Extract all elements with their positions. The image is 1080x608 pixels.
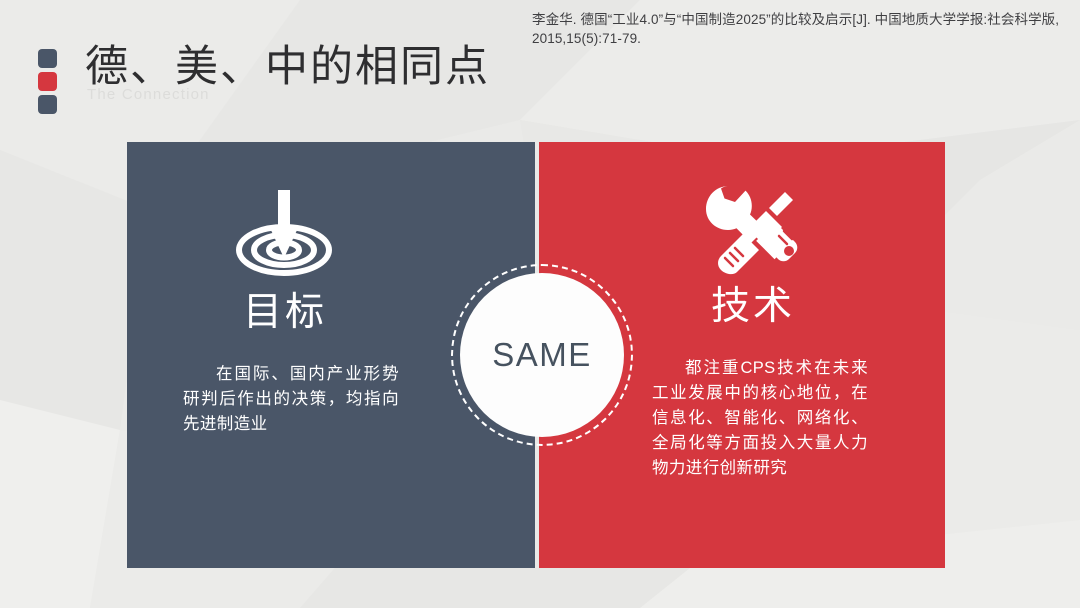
title-bullet-group bbox=[38, 49, 57, 114]
panel-technology-heading: 技术 bbox=[711, 284, 795, 330]
slide: 李金华. 德国“工业4.0”与“中国制造2025”的比较及启示[J]. 中国地质… bbox=[0, 0, 1080, 608]
target-arrow-icon bbox=[224, 186, 344, 282]
page-title: 德、美、中的相同点 bbox=[85, 42, 490, 92]
same-label: SAME bbox=[492, 336, 592, 374]
panel-goal-heading: 目标 bbox=[243, 290, 327, 336]
citation-text: 李金华. 德国“工业4.0”与“中国制造2025”的比较及启示[J]. 中国地质… bbox=[532, 10, 1072, 48]
title-text-wrap: 德、美、中的相同点 The Connection bbox=[85, 42, 490, 92]
title-bullet-2 bbox=[38, 72, 57, 91]
wrench-screwdriver-icon bbox=[693, 180, 813, 276]
page-subtitle: The Connection bbox=[87, 86, 210, 103]
title-bullet-3 bbox=[38, 95, 57, 114]
white-disc: SAME bbox=[460, 273, 624, 437]
panel-technology-body: 都注重CPS技术在未来工业发展中的核心地位，在信息化、智能化、网络化、全局化等方… bbox=[652, 356, 868, 481]
panel-goal-body: 在国际、国内产业形势研判后作出的决策，均指向先进制造业 bbox=[183, 362, 399, 437]
center-same-badge: SAME bbox=[451, 264, 633, 446]
title-bullet-1 bbox=[38, 49, 57, 68]
page-title-block: 德、美、中的相同点 The Connection bbox=[38, 42, 490, 114]
